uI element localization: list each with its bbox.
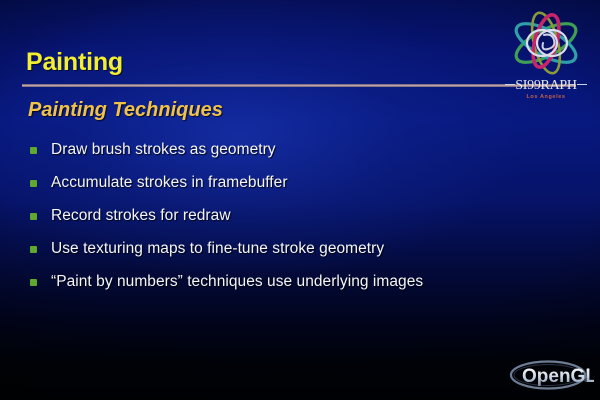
wordmark-dash-right [577,84,587,85]
siggraph-wordmark: SI99RAPH [494,78,598,94]
list-item-label: Record strokes for redraw [51,206,231,226]
opengl-logo: OpenGL ® [508,358,594,392]
bullet-marker-icon [30,213,37,220]
siggraph-wordmark-text: SI99RAPH [515,78,576,93]
bullet-marker-icon [30,147,37,154]
siggraph-rings-icon [500,10,592,76]
bullet-list: Draw brush strokes as geometry Accumulat… [30,140,570,305]
list-item: “Paint by numbers” techniques use underl… [30,272,570,305]
bullet-marker-icon [30,180,37,187]
list-item: Use texturing maps to fine-tune stroke g… [30,239,570,272]
page-title: Painting [26,48,123,77]
list-item-label: Draw brush strokes as geometry [51,140,276,160]
siggraph-city-label: Los Angeles [494,94,598,100]
list-item-label: Accumulate strokes in framebuffer [51,173,288,193]
slide-subtitle: Painting Techniques [28,99,223,122]
list-item-label: Use texturing maps to fine-tune stroke g… [51,239,384,259]
list-item: Accumulate strokes in framebuffer [30,173,570,206]
svg-text:®: ® [584,376,590,384]
wordmark-dash-left [505,84,515,85]
list-item: Record strokes for redraw [30,206,570,239]
title-divider [22,84,576,87]
siggraph-logo: SI99RAPH Los Angeles [494,8,598,108]
list-item: Draw brush strokes as geometry [30,140,570,173]
presentation-slide: Painting Painting Techniques Draw brush … [0,0,600,400]
opengl-logo-icon: OpenGL ® [508,358,594,392]
bullet-marker-icon [30,279,37,286]
bullet-marker-icon [30,246,37,253]
list-item-label: “Paint by numbers” techniques use underl… [51,272,423,292]
